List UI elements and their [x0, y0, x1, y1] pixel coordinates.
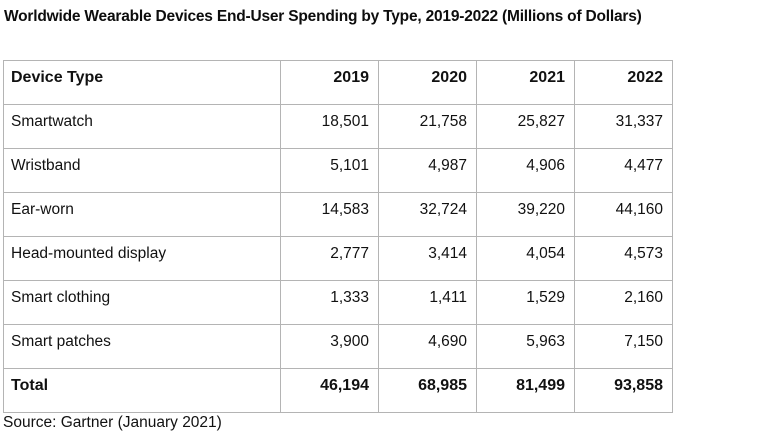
cell-2021-value: 5,963	[477, 325, 574, 368]
column-header-2019-label: 2019	[281, 61, 378, 104]
cell-2022: 2,160	[575, 281, 673, 325]
cell-device-type: Smart patches	[4, 325, 281, 369]
column-header-2019: 2019	[281, 61, 379, 105]
cell-2020: 4,987	[379, 149, 477, 193]
column-header-2020: 2020	[379, 61, 477, 105]
cell-2019-value: 14,583	[281, 193, 378, 236]
cell-2020-value: 4,690	[379, 325, 476, 368]
table-row: Smart patches 3,900 4,690 5,963 7,150	[4, 325, 673, 369]
cell-2022-value: 4,573	[575, 237, 672, 280]
cell-2022-value: 2,160	[575, 281, 672, 324]
table-body: Smartwatch 18,501 21,758 25,827 31,337	[4, 105, 673, 413]
cell-2022-value: 4,477	[575, 149, 672, 192]
column-header-device-type-label: Device Type	[4, 61, 280, 104]
cell-2020-value: 32,724	[379, 193, 476, 236]
cell-2021: 5,963	[477, 325, 575, 369]
cell-device-type: Head-mounted display	[4, 237, 281, 281]
cell-2019-value: 1,333	[281, 281, 378, 324]
cell-total-2019: 46,194	[281, 369, 379, 413]
cell-2021-value: 1,529	[477, 281, 574, 324]
cell-2022: 7,150	[575, 325, 673, 369]
cell-2022: 4,477	[575, 149, 673, 193]
cell-2022-value: 7,150	[575, 325, 672, 368]
cell-2021: 25,827	[477, 105, 575, 149]
cell-2021: 1,529	[477, 281, 575, 325]
cell-2019-value: 18,501	[281, 105, 378, 148]
table-row: Smartwatch 18,501 21,758 25,827 31,337	[4, 105, 673, 149]
column-header-2022-label: 2022	[575, 61, 672, 104]
column-header-2021: 2021	[477, 61, 575, 105]
cell-total-2021-value: 81,499	[477, 369, 574, 412]
cell-device-type-label: Ear-worn	[4, 193, 280, 236]
source-note: Source: Gartner (January 2021)	[3, 412, 222, 434]
cell-device-type: Ear-worn	[4, 193, 281, 237]
cell-total-2019-value: 46,194	[281, 369, 378, 412]
report-table-page: Worldwide Wearable Devices End-User Spen…	[0, 0, 768, 437]
cell-device-type: Smart clothing	[4, 281, 281, 325]
cell-device-type-label: Smart clothing	[4, 281, 280, 324]
cell-2022: 44,160	[575, 193, 673, 237]
cell-2020: 3,414	[379, 237, 477, 281]
table-row-total: Total 46,194 68,985 81,499 93,858	[4, 369, 673, 413]
cell-2020: 4,690	[379, 325, 477, 369]
cell-2019: 3,900	[281, 325, 379, 369]
cell-2021: 4,054	[477, 237, 575, 281]
cell-2021: 4,906	[477, 149, 575, 193]
cell-2020-value: 21,758	[379, 105, 476, 148]
cell-2019-value: 3,900	[281, 325, 378, 368]
cell-2020: 21,758	[379, 105, 477, 149]
spending-table: Device Type 2019 2020 2021 2022	[3, 60, 673, 413]
cell-2020-value: 1,411	[379, 281, 476, 324]
cell-total-2021: 81,499	[477, 369, 575, 413]
table-row: Smart clothing 1,333 1,411 1,529 2,160	[4, 281, 673, 325]
spending-table-container: Device Type 2019 2020 2021 2022	[3, 60, 673, 413]
cell-total-2022-value: 93,858	[575, 369, 672, 412]
cell-device-type-label: Wristband	[4, 149, 280, 192]
cell-device-type-label: Smartwatch	[4, 105, 280, 148]
cell-2021: 39,220	[477, 193, 575, 237]
cell-2021-value: 4,054	[477, 237, 574, 280]
column-header-2020-label: 2020	[379, 61, 476, 104]
cell-total-2020-value: 68,985	[379, 369, 476, 412]
table-row: Wristband 5,101 4,987 4,906 4,477	[4, 149, 673, 193]
cell-2019: 18,501	[281, 105, 379, 149]
table-row: Ear-worn 14,583 32,724 39,220 44,160	[4, 193, 673, 237]
cell-2022: 4,573	[575, 237, 673, 281]
cell-2019: 14,583	[281, 193, 379, 237]
cell-2019-value: 5,101	[281, 149, 378, 192]
cell-total-label-text: Total	[4, 369, 280, 412]
cell-2019: 1,333	[281, 281, 379, 325]
cell-total-2022: 93,858	[575, 369, 673, 413]
cell-2022-value: 31,337	[575, 105, 672, 148]
cell-total-2020: 68,985	[379, 369, 477, 413]
column-header-2022: 2022	[575, 61, 673, 105]
cell-2020: 1,411	[379, 281, 477, 325]
cell-2021-value: 39,220	[477, 193, 574, 236]
cell-2020-value: 4,987	[379, 149, 476, 192]
cell-2019: 2,777	[281, 237, 379, 281]
cell-device-type: Smartwatch	[4, 105, 281, 149]
cell-2021-value: 4,906	[477, 149, 574, 192]
cell-device-type-label: Head-mounted display	[4, 237, 280, 280]
cell-device-type-label: Smart patches	[4, 325, 280, 368]
table-header: Device Type 2019 2020 2021 2022	[4, 61, 673, 105]
page-title: Worldwide Wearable Devices End-User Spen…	[0, 0, 760, 29]
cell-2020: 32,724	[379, 193, 477, 237]
cell-2022: 31,337	[575, 105, 673, 149]
cell-2020-value: 3,414	[379, 237, 476, 280]
cell-device-type: Wristband	[4, 149, 281, 193]
cell-2019: 5,101	[281, 149, 379, 193]
table-row: Head-mounted display 2,777 3,414 4,054 4…	[4, 237, 673, 281]
cell-2021-value: 25,827	[477, 105, 574, 148]
column-header-2021-label: 2021	[477, 61, 574, 104]
cell-2019-value: 2,777	[281, 237, 378, 280]
column-header-device-type: Device Type	[4, 61, 281, 105]
cell-2022-value: 44,160	[575, 193, 672, 236]
table-header-row: Device Type 2019 2020 2021 2022	[4, 61, 673, 105]
cell-total-label: Total	[4, 369, 281, 413]
